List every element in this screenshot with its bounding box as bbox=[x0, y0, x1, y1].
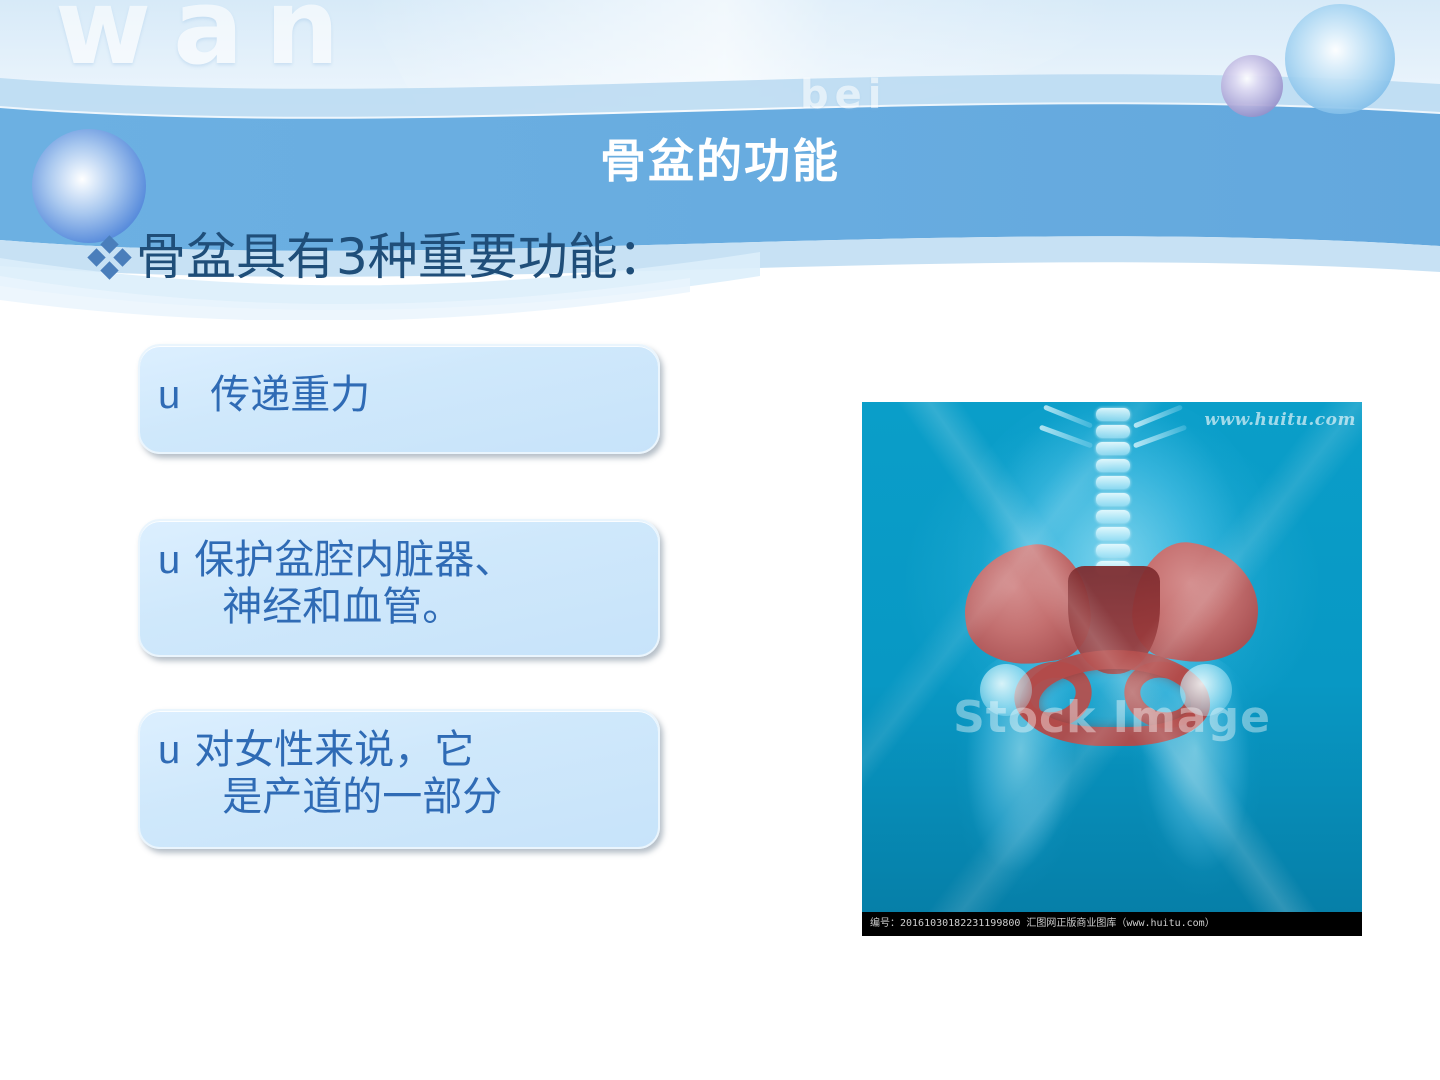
decorative-sphere-large bbox=[1285, 4, 1395, 114]
ghost-watermark-text-secondary: bei bbox=[800, 72, 887, 118]
page-title: 骨盆的功能 bbox=[0, 125, 1440, 191]
content-box-3-line1: 对女性来说，它 bbox=[194, 727, 474, 773]
figure-caption-bar: 编号：20161030182231199800 汇图网正版商业图库（www.hu… bbox=[862, 912, 1362, 936]
content-box-1-text: 传递重力 bbox=[210, 372, 370, 419]
content-box-2-text: 保护盆腔内脏器、 神经和血管。 bbox=[194, 537, 514, 631]
ghost-watermark-text: wan bbox=[55, 0, 361, 88]
content-box-2[interactable]: u 保护盆腔内脏器、 神经和血管。 bbox=[138, 519, 660, 657]
diamond-cluster-bullet-icon bbox=[88, 234, 132, 280]
subtitle-text: 骨盆具有3种重要功能： bbox=[136, 232, 668, 282]
subtitle-row: 骨盆具有3种重要功能： bbox=[88, 232, 668, 282]
content-box-3[interactable]: u 对女性来说，它 是产道的一部分 bbox=[138, 709, 660, 849]
box-bullet-icon: u bbox=[158, 372, 180, 419]
content-box-3-line2: 是产道的一部分 bbox=[194, 774, 502, 821]
content-box-1[interactable]: u 传递重力 bbox=[138, 344, 660, 454]
content-box-2-line1: 保护盆腔内脏器、 bbox=[194, 537, 514, 583]
decorative-sphere-small bbox=[1221, 55, 1283, 117]
watermark-stock-image: Stock Image bbox=[862, 692, 1362, 743]
xray-body-render: www.huitu.com Stock Image bbox=[862, 402, 1362, 912]
content-box-2-line2: 神经和血管。 bbox=[194, 584, 514, 631]
box-bullet-icon: u bbox=[158, 537, 180, 584]
slide-canvas: wan bei 骨盆的功能 骨盆具有3种重要功能： u 传递重力 u 保护盆腔内… bbox=[0, 0, 1440, 1080]
content-box-3-text: 对女性来说，它 是产道的一部分 bbox=[194, 727, 502, 821]
watermark-url: www.huitu.com bbox=[1204, 410, 1356, 430]
content-box-1-line1: 传递重力 bbox=[210, 372, 370, 418]
box-bullet-icon: u bbox=[158, 727, 180, 774]
pelvis-xray-image: www.huitu.com Stock Image 编号：20161030182… bbox=[862, 402, 1362, 936]
